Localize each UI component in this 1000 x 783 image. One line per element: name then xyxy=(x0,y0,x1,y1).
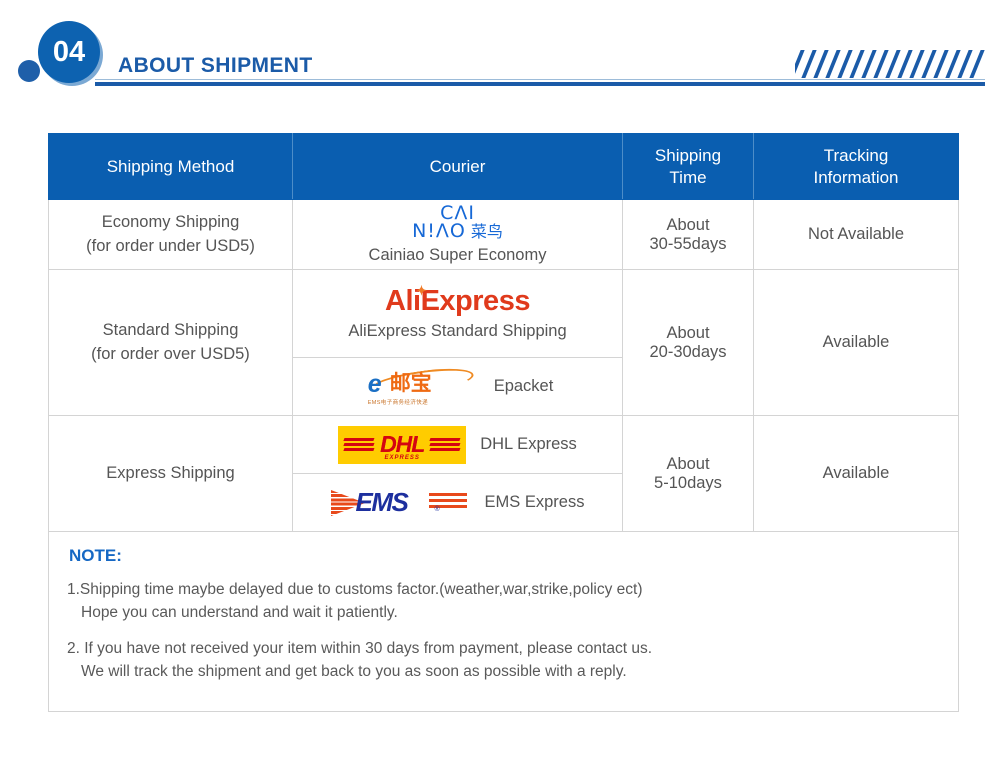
courier-label-ems: EMS Express xyxy=(485,493,585,512)
cell-shipping-method-standard: Standard Shipping (for order over USD5) xyxy=(49,270,293,416)
time-line1: About xyxy=(629,216,747,235)
method-line2: (for order under USD5) xyxy=(55,235,286,259)
table-row: Express Shipping DHL EXPRESS DHL Express xyxy=(49,416,959,474)
cell-tracking-standard: Available xyxy=(754,270,959,416)
note-section: NOTE: 1.Shipping time maybe delayed due … xyxy=(49,532,959,712)
epacket-logo-tagline: EMS电子商务经济快递 xyxy=(368,398,428,406)
cell-courier-epacket: e 邮宝 EMS电子商务经济快递 Epacket xyxy=(293,358,623,416)
courier-label-dhl: DHL Express xyxy=(480,435,577,454)
epacket-logo: e 邮宝 EMS电子商务经济快递 xyxy=(362,370,480,404)
column-header-courier: Courier xyxy=(293,134,623,200)
epacket-logo-chinese: 邮宝 xyxy=(390,373,432,394)
table-row: Standard Shipping (for order over USD5) … xyxy=(49,270,959,358)
method-line1: Economy Shipping xyxy=(55,211,286,235)
table-header-row: Shipping Method Courier Shipping Time Tr… xyxy=(49,134,959,200)
column-header-tracking-line1: Tracking xyxy=(760,145,952,166)
dhl-logo-subtext: EXPRESS xyxy=(338,455,466,461)
table-row: Economy Shipping (for order under USD5) … xyxy=(49,200,959,270)
note-line: Hope you can understand and wait it pati… xyxy=(67,601,942,624)
cainiao-logo-chinese: 菜鸟 xyxy=(471,224,503,239)
note-row: NOTE: 1.Shipping time maybe delayed due … xyxy=(49,532,959,712)
courier-label-epacket: Epacket xyxy=(494,377,554,396)
ems-logo-bar xyxy=(429,499,467,502)
time-line1: About xyxy=(629,455,747,474)
shipping-table: Shipping Method Courier Shipping Time Tr… xyxy=(48,133,959,712)
cell-shipping-time-standard: About 20-30days xyxy=(623,270,754,416)
note-line: We will track the shipment and get back … xyxy=(67,660,942,683)
column-header-shipping-time-line2: Time xyxy=(629,167,747,188)
column-header-tracking-line2: Information xyxy=(760,167,952,188)
column-header-tracking-information: Tracking Information xyxy=(754,134,959,200)
ems-logo-text: EMS xyxy=(356,489,408,515)
time-line2: 20-30days xyxy=(629,343,747,362)
section-number-badge: 04 xyxy=(38,21,100,83)
column-header-shipping-method: Shipping Method xyxy=(49,134,293,200)
cell-shipping-method-economy: Economy Shipping (for order under USD5) xyxy=(49,200,293,270)
page-title: ABOUT SHIPMENT xyxy=(118,54,313,78)
cell-tracking-express: Available xyxy=(754,416,959,532)
time-line1: About xyxy=(629,324,747,343)
note-line: 2. If you have not received your item wi… xyxy=(67,637,942,660)
column-header-shipping-time: Shipping Time xyxy=(623,134,754,200)
section-header: 04 ABOUT SHIPMENT xyxy=(0,0,1000,118)
aliexpress-logo: ✦ AliExpress xyxy=(385,287,530,316)
note-item: 2. If you have not received your item wi… xyxy=(67,637,942,684)
shipping-table-wrapper: Shipping Method Courier Shipping Time Tr… xyxy=(48,133,958,712)
diagonal-stripes-decoration xyxy=(795,50,985,78)
cell-courier-dhl: DHL EXPRESS DHL Express xyxy=(293,416,623,474)
dhl-logo-bar xyxy=(430,443,461,446)
courier-label-cainiao: Cainiao Super Economy xyxy=(369,246,547,265)
cell-shipping-method-express: Express Shipping xyxy=(49,416,293,532)
dhl-logo: DHL EXPRESS xyxy=(338,426,466,464)
method-line2: (for order over USD5) xyxy=(55,343,286,367)
cainiao-logo-line2: N!ΛO xyxy=(412,222,466,240)
ems-logo: EMS ® xyxy=(331,485,471,521)
dhl-logo-bar xyxy=(430,438,461,441)
column-header-shipping-time-line1: Shipping xyxy=(629,145,747,166)
cell-courier-cainiao: CΛI N!ΛO 菜鸟 Cainiao Super Economy xyxy=(293,200,623,270)
aliexpress-sparkle-icon: ✦ xyxy=(416,284,426,297)
ems-logo-bar xyxy=(429,493,467,496)
cell-shipping-time-economy: About 30-55days xyxy=(623,200,754,270)
dhl-logo-bar xyxy=(344,443,375,446)
header-rule-thin xyxy=(95,79,985,80)
section-number: 04 xyxy=(53,38,85,67)
dhl-logo-text: DHL xyxy=(380,433,424,456)
epacket-logo-letter: e xyxy=(368,372,382,397)
time-line2: 30-55days xyxy=(629,235,747,254)
cell-courier-ems: EMS ® EMS Express xyxy=(293,474,623,532)
cell-courier-aliexpress: ✦ AliExpress AliExpress Standard Shippin… xyxy=(293,270,623,358)
courier-label-aliexpress: AliExpress Standard Shipping xyxy=(348,322,566,341)
dhl-logo-bar xyxy=(344,438,375,441)
time-line2: 5-10days xyxy=(629,474,747,493)
dhl-logo-bar xyxy=(344,448,375,451)
header-rule xyxy=(95,82,985,86)
note-title: NOTE: xyxy=(69,546,942,566)
method-line1: Standard Shipping xyxy=(55,319,286,343)
cell-shipping-time-express: About 5-10days xyxy=(623,416,754,532)
dhl-logo-bar xyxy=(430,448,461,451)
decorative-dot-icon xyxy=(18,60,40,82)
note-item: 1.Shipping time maybe delayed due to cus… xyxy=(67,578,942,625)
note-line: 1.Shipping time maybe delayed due to cus… xyxy=(67,578,942,601)
ems-logo-registered-icon: ® xyxy=(435,506,440,513)
cell-tracking-economy: Not Available xyxy=(754,200,959,270)
cainiao-logo: CΛI N!ΛO 菜鸟 xyxy=(412,204,503,240)
aliexpress-logo-text: AliExpress xyxy=(385,285,530,317)
